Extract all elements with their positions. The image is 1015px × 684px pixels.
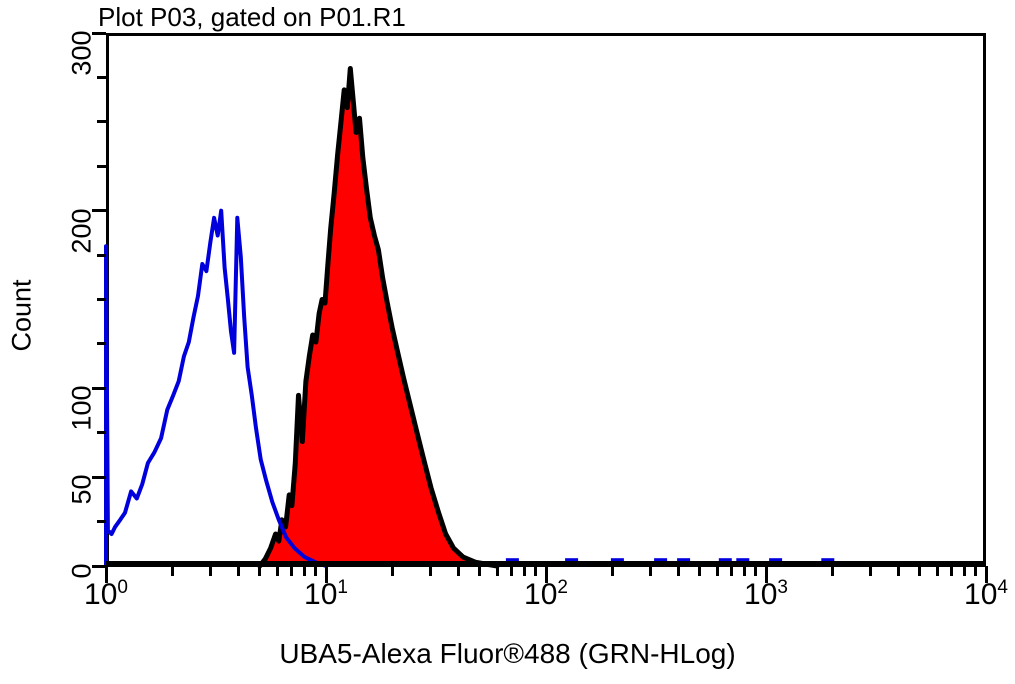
x-axis-minor-tick	[897, 566, 900, 576]
y-axis-minor-tick	[97, 520, 106, 523]
x-axis-minor-tick	[290, 566, 293, 576]
y-axis-tick-label: 100	[67, 386, 98, 506]
x-axis-tick-label: 101	[304, 578, 348, 612]
x-axis-minor-tick	[171, 566, 174, 576]
x-axis-minor-tick	[698, 566, 701, 576]
x-axis-minor-tick	[429, 566, 432, 576]
x-axis-minor-tick	[869, 566, 872, 576]
x-axis-minor-tick	[314, 566, 317, 576]
x-axis-tick-label: 100	[84, 578, 128, 612]
y-axis-minor-tick	[97, 76, 106, 79]
x-axis-minor-tick	[611, 566, 614, 576]
flow-cytometry-histogram: Plot P03, gated on P01.R1 Proteintech 12…	[0, 0, 1015, 683]
x-axis-minor-tick	[478, 566, 481, 576]
x-axis-minor-tick	[974, 566, 977, 576]
y-axis-tick-label: 200	[67, 208, 98, 328]
x-axis-minor-tick	[743, 566, 746, 576]
x-axis-minor-tick	[754, 566, 757, 576]
x-axis-minor-tick	[950, 566, 953, 576]
x-axis-minor-tick	[496, 566, 499, 576]
x-axis-minor-tick	[457, 566, 460, 576]
x-axis-minor-tick	[831, 566, 834, 576]
x-axis-minor-tick	[303, 566, 306, 576]
x-axis-minor-tick	[534, 566, 537, 576]
x-axis-minor-tick	[523, 566, 526, 576]
chart-canvas	[0, 0, 1015, 683]
y-axis-minor-tick	[97, 431, 106, 434]
x-axis-minor-tick	[276, 566, 279, 576]
y-axis-minor-tick	[97, 298, 106, 301]
x-axis-minor-tick	[677, 566, 680, 576]
y-axis-minor-tick	[97, 254, 106, 257]
x-axis-minor-tick	[936, 566, 939, 576]
y-axis-minor-tick	[97, 120, 106, 123]
x-axis-minor-tick	[963, 566, 966, 576]
sample-histogram-group	[260, 69, 497, 567]
x-axis-minor-tick	[237, 566, 240, 576]
x-axis-minor-tick	[730, 566, 733, 576]
x-axis-minor-tick	[918, 566, 921, 576]
x-axis-minor-tick	[209, 566, 212, 576]
x-axis-minor-tick	[258, 566, 261, 576]
y-axis-tick-label: 300	[67, 31, 98, 151]
x-axis-minor-tick	[510, 566, 513, 576]
y-axis-minor-tick	[97, 342, 106, 345]
x-axis-tick-label: 104	[964, 578, 1008, 612]
x-axis-minor-tick	[649, 566, 652, 576]
x-axis-minor-tick	[391, 566, 394, 576]
x-axis-tick-label: 102	[524, 578, 568, 612]
x-axis-minor-tick	[716, 566, 719, 576]
y-axis-minor-tick	[97, 165, 106, 168]
x-axis-tick-label: 103	[744, 578, 788, 612]
